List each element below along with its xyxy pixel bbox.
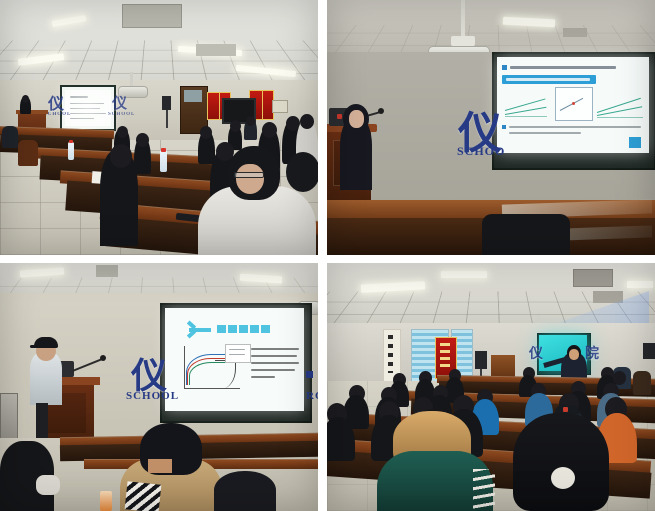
banner-text	[440, 343, 450, 369]
figure-line	[597, 106, 642, 116]
ceiling-light	[627, 281, 653, 288]
eyeglasses-icon	[234, 172, 264, 178]
legend-entry	[229, 354, 245, 355]
wall-logo-character-left: 仪	[529, 347, 543, 361]
vest-pattern	[125, 481, 162, 511]
wall-logo-character-right: 院	[585, 347, 599, 361]
ceiling-vent	[122, 4, 182, 28]
slide-heading-text	[510, 66, 616, 69]
microphone-head-icon	[378, 108, 384, 114]
slide-body-text	[251, 376, 275, 378]
slide-text-line	[70, 118, 94, 119]
wall-logo-text: SCHOOL	[126, 391, 179, 402]
presenter-face	[569, 349, 579, 360]
slide-heading-block	[228, 325, 237, 333]
coat-stripe	[473, 469, 495, 511]
photo-grid-page: 仪 SCHOOL 仪 SCHOOL	[0, 0, 655, 511]
laptop-logo-icon	[337, 114, 342, 119]
audience-head	[300, 114, 314, 129]
foreground-student-face	[236, 164, 264, 194]
slide-text-line	[70, 113, 106, 114]
projector-mount-arm	[461, 0, 465, 38]
chart-axis-y	[184, 346, 185, 388]
ceiling-light	[20, 267, 64, 277]
speaker-box	[475, 351, 487, 369]
foreground-audience-hair-dark	[513, 413, 609, 511]
slide-body-text	[251, 355, 297, 357]
wall-logo-accent	[306, 371, 313, 378]
ceiling-light	[52, 15, 87, 27]
slide-body-text	[251, 369, 295, 371]
chart-axis-x	[184, 388, 240, 389]
presenter-face	[349, 110, 364, 128]
slide-bullet-heading	[502, 65, 507, 70]
photo-bottom-left[interactable]: 仪 SCHOOL RO	[0, 263, 318, 511]
ceiling-vent	[196, 44, 236, 56]
slide-bullet	[502, 125, 506, 129]
slide-text-line	[70, 108, 100, 109]
projection-screen	[60, 85, 116, 131]
foreground-student-head	[286, 152, 318, 192]
slide-heading-block	[250, 325, 259, 333]
slide-heading-block	[217, 325, 226, 333]
projection-screen	[497, 57, 649, 153]
figure-line	[505, 116, 547, 117]
audience-neck	[148, 459, 172, 473]
audience-arm	[36, 475, 60, 495]
audience-head	[136, 133, 149, 147]
chair-foreground	[482, 214, 570, 255]
slide-body-text	[251, 362, 299, 364]
photo-top-left[interactable]: 仪 SCHOOL 仪 SCHOOL	[0, 0, 318, 255]
audience-head	[110, 144, 132, 168]
slide-page-badge	[629, 137, 641, 148]
ceiling	[327, 263, 655, 329]
slide-body-text	[509, 132, 581, 134]
audience-head	[117, 126, 128, 138]
speaker-box	[643, 343, 655, 359]
slide-text-line	[70, 96, 88, 98]
slide-chart-legend	[225, 344, 251, 363]
audience-head	[230, 120, 241, 132]
water-bottle	[68, 142, 74, 160]
audience-head	[262, 122, 277, 138]
wall-control-panel	[272, 100, 288, 113]
projection-screen	[165, 308, 304, 411]
slide-text-line	[70, 103, 104, 104]
chart-curve-falling	[215, 360, 236, 389]
presenter-cap-brim	[30, 345, 44, 348]
wall-logo-character: 仪	[48, 96, 64, 112]
speaker-box	[162, 96, 171, 110]
wall-logo-text-right: SCHOOL	[108, 112, 135, 117]
slide-highlight-text	[506, 78, 590, 81]
slide-figure-center	[555, 87, 593, 121]
wall-logo-text-right: RO	[306, 391, 318, 402]
door-window	[184, 90, 202, 102]
legend-entry	[229, 349, 245, 350]
presenter-head	[22, 95, 29, 103]
ceiling-vent	[563, 28, 587, 37]
chair	[2, 126, 18, 148]
audience-head	[246, 116, 255, 126]
calligraphy-ink	[388, 335, 393, 373]
audience-head	[613, 371, 626, 385]
slide-figure-left	[505, 90, 547, 118]
water-bottle	[160, 150, 167, 172]
figure-line	[597, 117, 643, 118]
bottle-cap	[69, 140, 73, 143]
ceiling-light	[441, 271, 487, 278]
wall-logo-text: SCHOOL	[44, 112, 71, 117]
slide-body-text	[509, 126, 641, 128]
figure-dot	[572, 102, 575, 105]
ceiling-vent	[96, 265, 118, 277]
wall-logo-text: SCHOO	[457, 145, 505, 157]
slide-heading-block	[261, 325, 270, 333]
slide-heading-block	[239, 325, 248, 333]
ceiling	[327, 0, 655, 60]
chair	[18, 140, 38, 166]
slide-figure-right	[597, 90, 643, 118]
audience-head	[214, 471, 276, 511]
ceiling-vent	[593, 291, 623, 303]
chair	[633, 371, 651, 395]
ceiling-vent	[573, 269, 613, 287]
photo-bottom-right[interactable]: 仪 院	[327, 263, 655, 511]
figure-line	[505, 98, 546, 111]
projector-bracket	[451, 36, 475, 46]
water-bottle	[100, 491, 112, 511]
hair-tie-icon	[551, 467, 575, 489]
bottle-cap	[161, 148, 166, 152]
microphone-head-icon	[100, 355, 106, 361]
audience-head	[200, 126, 212, 139]
slide-body-text	[251, 348, 299, 350]
wall-logo-character-right: 仪	[112, 96, 127, 111]
ceiling	[0, 0, 318, 88]
speaker-stand	[166, 110, 168, 128]
screen-surface	[65, 90, 111, 126]
cap-logo-icon	[563, 407, 568, 412]
photo-top-right[interactable]: 仪 SCHOO 10	[327, 0, 655, 255]
